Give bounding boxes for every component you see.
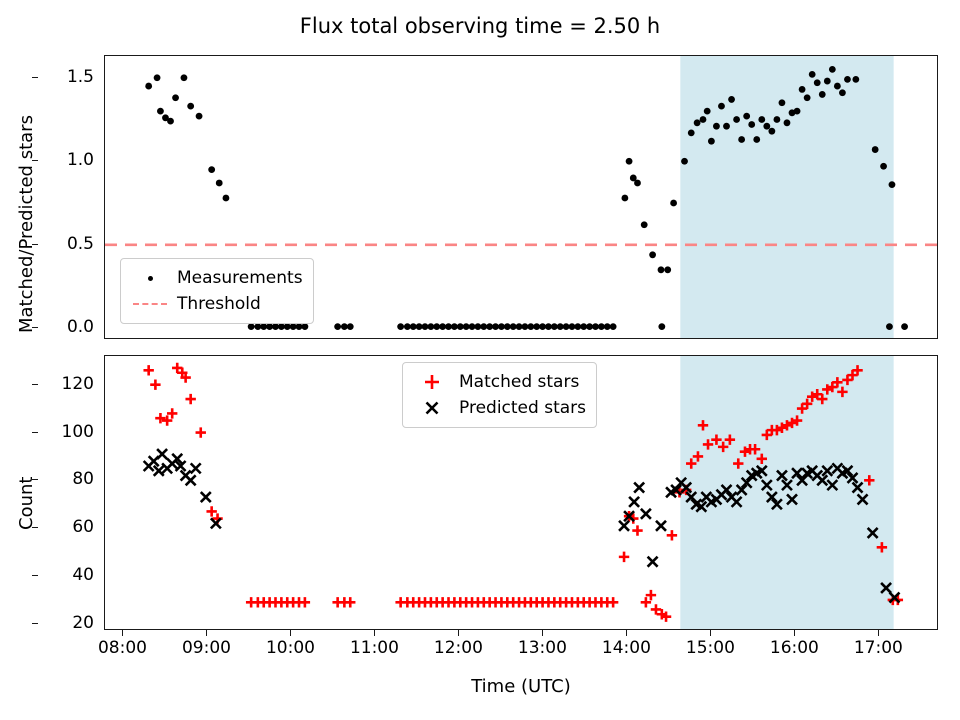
ytick-label: 80 — [72, 469, 94, 489]
xtick-label: 15:00 — [686, 638, 735, 658]
plus-marker-icon — [411, 373, 453, 391]
ytick-mark — [32, 432, 38, 433]
ytick-label: 60 — [72, 517, 94, 537]
chart-title: Flux total observing time = 2.50 h — [0, 14, 960, 38]
ytick-label: 120 — [62, 374, 94, 394]
ytick-label: 100 — [62, 422, 94, 442]
ytick-label: 40 — [72, 565, 94, 585]
ytick-label: 0.0 — [67, 317, 94, 337]
ratio-panel-legend: Measurements Threshold — [120, 258, 314, 324]
legend-label-threshold: Threshold — [171, 294, 261, 314]
cross-marker-icon — [411, 399, 453, 417]
ratio-panel-ytick-labels: 0.00.51.01.5 — [38, 55, 94, 339]
xtick-mark — [794, 630, 795, 636]
legend-item-predicted-stars[interactable]: Predicted stars — [411, 395, 586, 421]
xtick-label: 11:00 — [350, 638, 399, 658]
count-panel-legend: Matched stars Predicted stars — [402, 362, 597, 428]
xtick-label: 17:00 — [854, 638, 903, 658]
dot-marker-icon — [129, 276, 171, 281]
figure-root: Flux total observing time = 2.50 h 0.00.… — [0, 0, 960, 720]
xtick-mark — [290, 630, 291, 636]
xtick-label: 12:00 — [434, 638, 483, 658]
xtick-mark — [374, 630, 375, 636]
x-axis-ticks: 08:0009:0010:0011:0012:0013:0014:0015:00… — [104, 630, 938, 670]
xtick-label: 14:00 — [602, 638, 651, 658]
ytick-label: 0.5 — [67, 234, 94, 254]
ytick-mark — [32, 384, 38, 385]
count-panel-ylabel: Count — [16, 477, 37, 530]
xtick-mark — [626, 630, 627, 636]
legend-label-measurements: Measurements — [171, 268, 303, 288]
ratio-panel-ylabel: Matched/Predicted stars — [16, 115, 37, 333]
x-axis-label: Time (UTC) — [104, 676, 938, 697]
xtick-label: 09:00 — [182, 638, 231, 658]
xtick-label: 10:00 — [266, 638, 315, 658]
dashed-line-icon — [129, 303, 171, 305]
ytick-mark — [32, 623, 38, 624]
ytick-mark — [32, 575, 38, 576]
xtick-mark — [458, 630, 459, 636]
ytick-label: 1.0 — [67, 150, 94, 170]
xtick-mark — [542, 630, 543, 636]
ytick-label: 1.5 — [67, 67, 94, 87]
legend-item-threshold[interactable]: Threshold — [129, 291, 303, 317]
xtick-mark — [206, 630, 207, 636]
xtick-label: 13:00 — [518, 638, 567, 658]
legend-item-matched-stars[interactable]: Matched stars — [411, 369, 586, 395]
xtick-mark — [710, 630, 711, 636]
legend-label-predicted-stars: Predicted stars — [453, 398, 586, 418]
xtick-label: 08:00 — [98, 638, 147, 658]
ytick-label: 20 — [72, 613, 94, 633]
xtick-mark — [122, 630, 123, 636]
count-panel-ytick-labels: 20406080100120 — [38, 355, 94, 630]
legend-item-measurements[interactable]: Measurements — [129, 265, 303, 291]
xtick-label: 16:00 — [770, 638, 819, 658]
legend-label-matched-stars: Matched stars — [453, 372, 579, 392]
xtick-mark — [878, 630, 879, 636]
ytick-mark — [32, 77, 38, 78]
